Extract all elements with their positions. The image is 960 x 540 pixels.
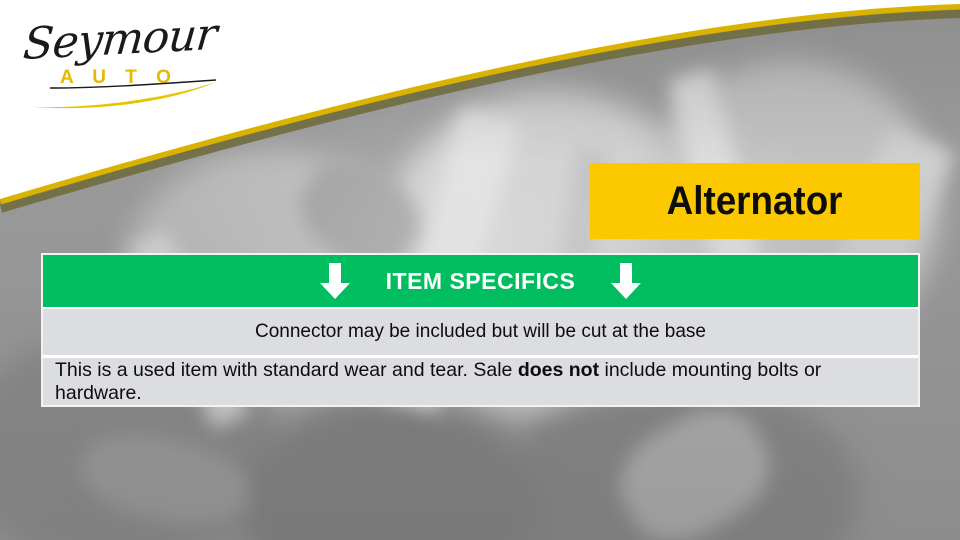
arrow-down-icon [318,261,352,301]
swoosh-underline-icon [20,76,220,110]
logo-script-text: Seymour [21,9,218,70]
spec-row: This is a used item with standard wear a… [43,355,918,405]
item-specifics-panel: ITEM SPECIFICS Connector may be included… [41,253,920,407]
spec-row-text: Connector may be included but will be cu… [255,321,706,343]
arrow-down-icon [609,261,643,301]
slide-canvas: Seymour A U T O Alternator ITEM SPECIFIC… [0,0,960,540]
product-title-text: Alternator [667,179,843,224]
spec-row: Connector may be included but will be cu… [43,307,918,355]
item-specifics-label: ITEM SPECIFICS [386,268,576,295]
spec-row-text: This is a used item with standard wear a… [55,359,906,405]
product-title-banner: Alternator [590,163,920,239]
brand-logo: Seymour A U T O [14,10,224,110]
item-specifics-header: ITEM SPECIFICS [43,255,918,307]
